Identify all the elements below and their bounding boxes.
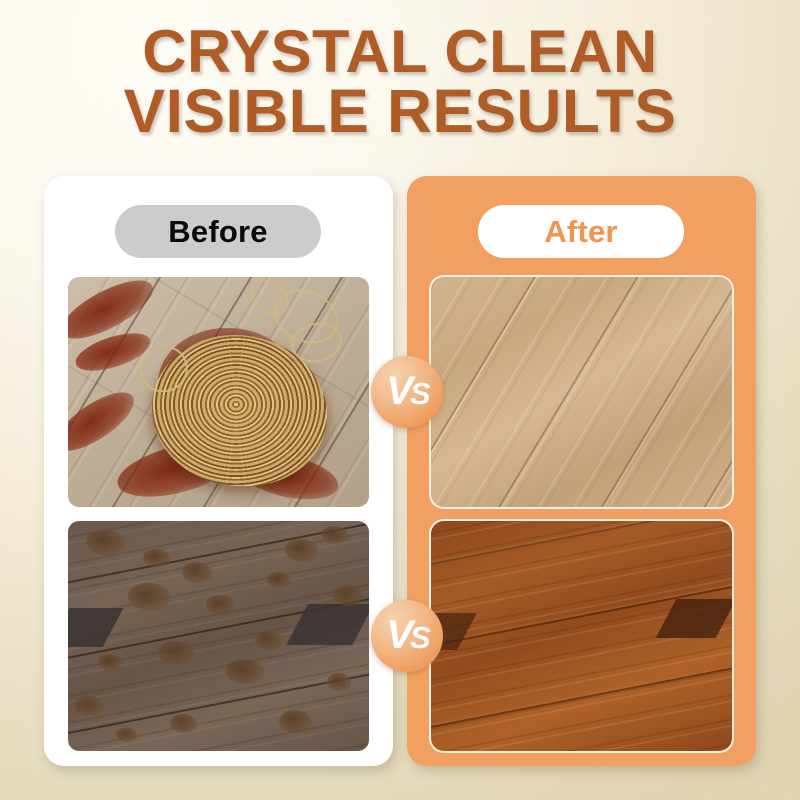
after-photo-clean-dark (431, 521, 732, 751)
before-badge-label: Before (168, 214, 267, 250)
light-wood-floor-clean (431, 277, 732, 507)
grime-stain (333, 585, 363, 606)
grime-stain (267, 572, 291, 588)
vs-letter-v: V (386, 613, 410, 657)
vs-badge-top: VS (371, 356, 443, 428)
vs-badge-bottom-label: VS (386, 615, 427, 655)
dark-wood-floor-clean (431, 521, 732, 751)
grime-stain (116, 728, 137, 742)
vs-badge-top-label: VS (386, 371, 427, 411)
after-badge: After (478, 205, 684, 258)
after-photo-clean-light (431, 277, 732, 507)
after-badge-label: After (544, 214, 617, 250)
vs-letter-s: S (410, 620, 428, 655)
before-panel: Before (44, 176, 393, 766)
dark-wood-floor-dirty (68, 521, 369, 751)
grime-stain (128, 583, 170, 611)
vs-badge-bottom: VS (371, 600, 443, 672)
grime-stain (279, 710, 312, 733)
sauce-splatter (68, 381, 142, 460)
vs-letter-v: V (386, 369, 410, 413)
before-after-comparison: Before (44, 176, 756, 766)
grime-stain (143, 549, 170, 567)
grime-stain (158, 641, 194, 664)
before-badge: Before (115, 205, 321, 258)
grime-stain (170, 714, 197, 732)
vs-letter-s: S (410, 376, 428, 411)
before-photo-stained-floor (68, 521, 369, 751)
grime-stain (285, 539, 318, 562)
dark-plank-patch (68, 608, 124, 647)
grime-stain (321, 526, 348, 544)
light-wood-floor-dirty (68, 277, 369, 507)
grime-stain (255, 631, 282, 649)
grime-stain (86, 530, 125, 555)
grime-stain (74, 696, 104, 717)
dark-plank-patch (286, 604, 369, 645)
grime-stain (225, 659, 264, 684)
grime-stain (182, 562, 212, 583)
grime-stain (206, 595, 233, 616)
grime-stain (98, 654, 122, 670)
headline-line-2: VISIBLE RESULTS (0, 81, 800, 141)
before-photo-spaghetti (68, 277, 369, 507)
after-panel: After (407, 176, 756, 766)
page-title: CRYSTAL CLEAN VISIBLE RESULTS (0, 22, 800, 142)
dark-plank-patch (655, 599, 732, 638)
headline-line-1: CRYSTAL CLEAN (0, 22, 800, 81)
grime-stain (327, 673, 351, 691)
